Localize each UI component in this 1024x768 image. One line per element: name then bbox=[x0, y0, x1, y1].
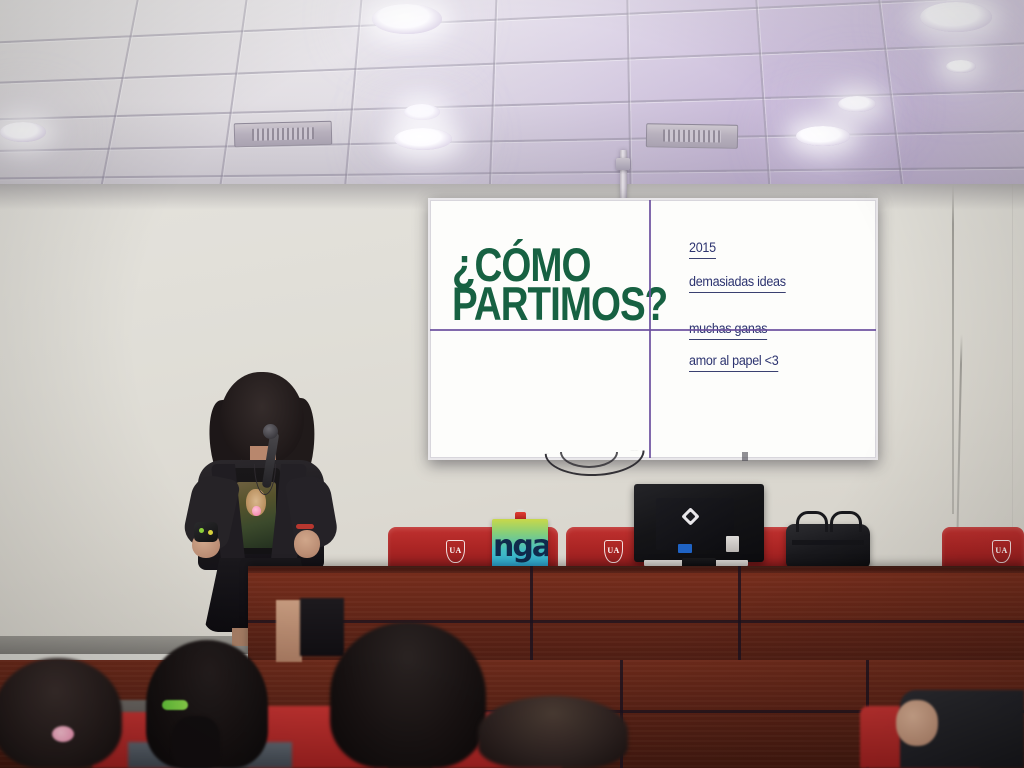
screen-mount-bracket bbox=[742, 452, 748, 461]
pink-hair-clip bbox=[52, 726, 74, 742]
slide-fact-ideas: demasiadas ideas bbox=[689, 274, 786, 293]
monitor-blue-sticker bbox=[678, 544, 692, 553]
bag-handle bbox=[796, 511, 828, 532]
headline-line-2: PARTIMOS? bbox=[452, 285, 624, 324]
stage-monitor bbox=[634, 484, 764, 562]
slide-fact-papel: amor al papel <3 bbox=[689, 353, 778, 372]
air-vent-icon bbox=[234, 121, 333, 148]
presenter-leg-foreground bbox=[276, 600, 302, 662]
black-duffel-bag bbox=[786, 524, 870, 568]
bag-strap bbox=[792, 540, 864, 545]
nga-gradient-sign: nga bbox=[492, 519, 548, 569]
slide-headline: ¿CÓMO PARTIMOS? bbox=[452, 246, 624, 323]
slide-fact-year: 2015 bbox=[689, 240, 716, 259]
bag-handle bbox=[830, 511, 862, 532]
stage-chair bbox=[942, 527, 1024, 571]
monitor-rear-panel bbox=[656, 498, 734, 550]
ceiling-light-icon bbox=[946, 60, 976, 73]
presenter-skirt-foreground bbox=[300, 598, 344, 656]
audience-member bbox=[478, 696, 628, 768]
desk-panel-seam bbox=[248, 620, 1024, 623]
ceiling-light-icon bbox=[394, 128, 452, 150]
ceiling-light-icon bbox=[0, 122, 46, 142]
videowall-seam-vertical bbox=[649, 200, 651, 458]
conduit-junction-box bbox=[616, 158, 630, 170]
audience-member bbox=[0, 658, 122, 768]
air-vent-icon bbox=[646, 123, 738, 149]
ceiling-light-icon bbox=[372, 4, 442, 34]
audience-member-hand bbox=[896, 700, 938, 746]
ceiling-light-icon bbox=[796, 126, 850, 146]
presenter-hand-right bbox=[294, 530, 320, 558]
slide-facts-block: 2015 demasiadas ideas muchas ganas amor … bbox=[689, 239, 858, 384]
green-scrunchie bbox=[162, 700, 188, 710]
sign-text: nga bbox=[493, 532, 548, 562]
videowall-seam-horizontal bbox=[430, 329, 876, 331]
audience-member bbox=[330, 622, 486, 768]
monitor-asset-label bbox=[726, 536, 739, 552]
ceiling-light-icon bbox=[920, 2, 992, 32]
ceiling-light-icon bbox=[404, 104, 440, 120]
presentation-clicker bbox=[194, 522, 218, 542]
presenter-bracelet bbox=[296, 524, 314, 529]
bubblegum-icon bbox=[252, 506, 261, 517]
audience-ponytail bbox=[172, 716, 220, 768]
ceiling bbox=[0, 0, 1024, 186]
auditorium-photo: ¿CÓMO PARTIMOS? 2015 demasiadas ideas mu… bbox=[0, 0, 1024, 768]
ceiling-light-icon bbox=[838, 96, 876, 112]
microphone-icon bbox=[263, 424, 278, 439]
video-wall-display: ¿CÓMO PARTIMOS? 2015 demasiadas ideas mu… bbox=[428, 198, 878, 460]
